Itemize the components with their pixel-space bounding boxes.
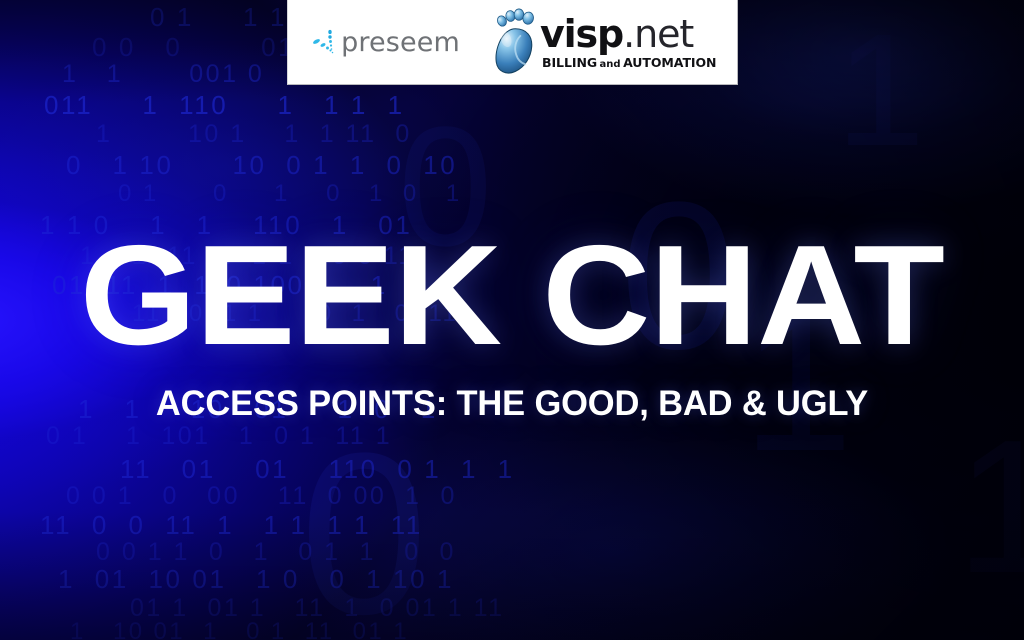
preseem-dots-icon bbox=[312, 27, 338, 57]
page-subtitle: ACCESS POINTS: THE GOOD, BAD & UGLY bbox=[8, 386, 1017, 421]
page-title: GEEK CHAT bbox=[0, 232, 1024, 360]
preseem-wordmark: preseem bbox=[341, 29, 460, 56]
slide-canvas: 001011 0 1 1 1 1 0 100 0 0 010 0 11 1 00… bbox=[0, 0, 1024, 640]
visp-wordmark-tld: .net bbox=[623, 15, 693, 53]
visp-tagline: BILLING and AUTOMATION bbox=[542, 55, 716, 70]
visp-footprint-icon bbox=[492, 7, 536, 79]
visp-text-block: visp .net BILLING and AUTOMATION bbox=[540, 15, 716, 70]
visp-wordmark-bold: visp bbox=[540, 15, 623, 53]
visp-tagline-and: and bbox=[597, 59, 623, 70]
visp-tagline-automation: AUTOMATION bbox=[623, 55, 716, 70]
preseem-logo[interactable]: preseem bbox=[288, 27, 488, 57]
headline-block: GEEK CHAT ACCESS POINTS: THE GOOD, BAD &… bbox=[0, 232, 1024, 421]
visp-wordmark: visp .net bbox=[540, 15, 693, 53]
sponsor-logo-panel: preseem bbox=[287, 0, 738, 85]
visp-logo[interactable]: visp .net BILLING and AUTOMATION bbox=[488, 6, 737, 79]
visp-tagline-billing: BILLING bbox=[542, 55, 597, 70]
